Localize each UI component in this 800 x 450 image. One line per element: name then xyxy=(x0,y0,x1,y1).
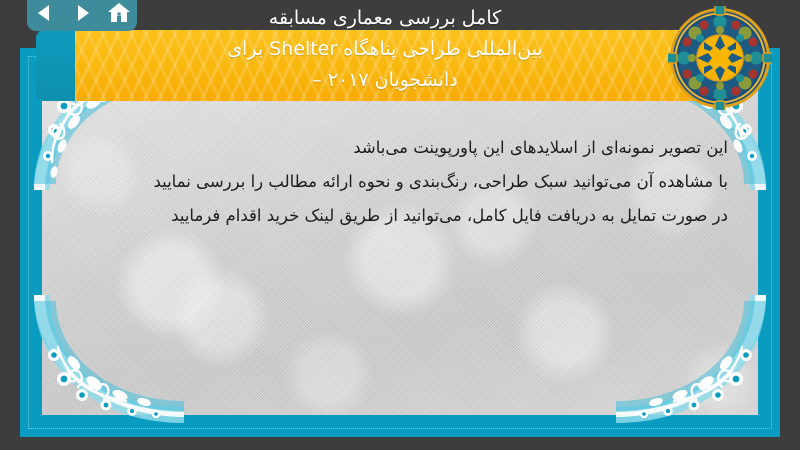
triangle-right-icon xyxy=(72,3,92,23)
home-icon xyxy=(107,2,131,24)
presentation-viewer: این تصویر نمونه‌ای از اسلایدهای این پاور… xyxy=(0,0,800,450)
body-line-1: این تصویر نمونه‌ای از اسلایدهای این پاور… xyxy=(80,136,728,161)
weave-texture xyxy=(42,70,758,415)
next-slide-button[interactable] xyxy=(69,0,95,26)
slide-body-text: این تصویر نمونه‌ای از اسلایدهای این پاور… xyxy=(80,136,728,237)
body-line-3: در صورت تمایل به دریافت فایل کامل، می‌تو… xyxy=(80,204,728,229)
previous-slide-button[interactable] xyxy=(32,0,58,26)
slide-content-panel xyxy=(42,70,758,415)
triangle-left-icon xyxy=(35,3,55,23)
body-line-2: با مشاهده آن می‌توانید سبک طراحی، رنگ‌بن… xyxy=(80,170,728,195)
slide-navigation-bar xyxy=(27,0,137,31)
home-button[interactable] xyxy=(106,0,132,26)
persian-medallion-rosette xyxy=(668,6,772,110)
slide-canvas: این تصویر نمونه‌ای از اسلایدهای این پاور… xyxy=(20,48,780,437)
